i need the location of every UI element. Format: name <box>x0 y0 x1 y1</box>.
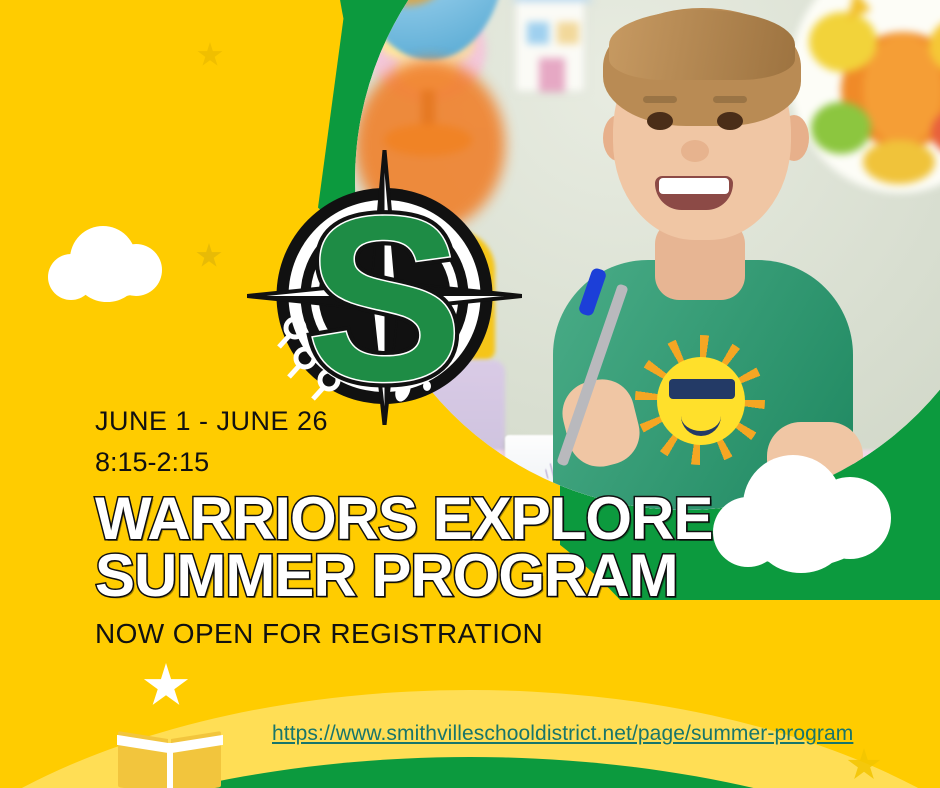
program-times: 8:15-2:15 <box>95 447 795 478</box>
cloud-left <box>48 222 178 302</box>
open-book-graphic <box>118 735 222 788</box>
registration-status: NOW OPEN FOR REGISTRATION <box>95 618 795 650</box>
smithville-explorer-logo: S S <box>247 150 522 425</box>
program-url-link[interactable]: https://www.smithvilleschooldistrict.net… <box>272 722 853 746</box>
headline-line-2: SUMMER PROGRAM <box>95 547 795 604</box>
program-dates: JUNE 1 - JUNE 26 <box>95 405 795 439</box>
svg-text:S: S <box>306 168 462 425</box>
headline-line-1: WARRIORS EXPLORE <box>95 490 795 547</box>
text-block: JUNE 1 - JUNE 26 8:15-2:15 WARRIORS EXPL… <box>95 405 795 650</box>
poster-canvas: S S JUNE 1 - JUNE 26 8:15-2:15 WARRIORS … <box>0 0 940 788</box>
page-title: WARRIORS EXPLORE SUMMER PROGRAM <box>95 490 795 604</box>
